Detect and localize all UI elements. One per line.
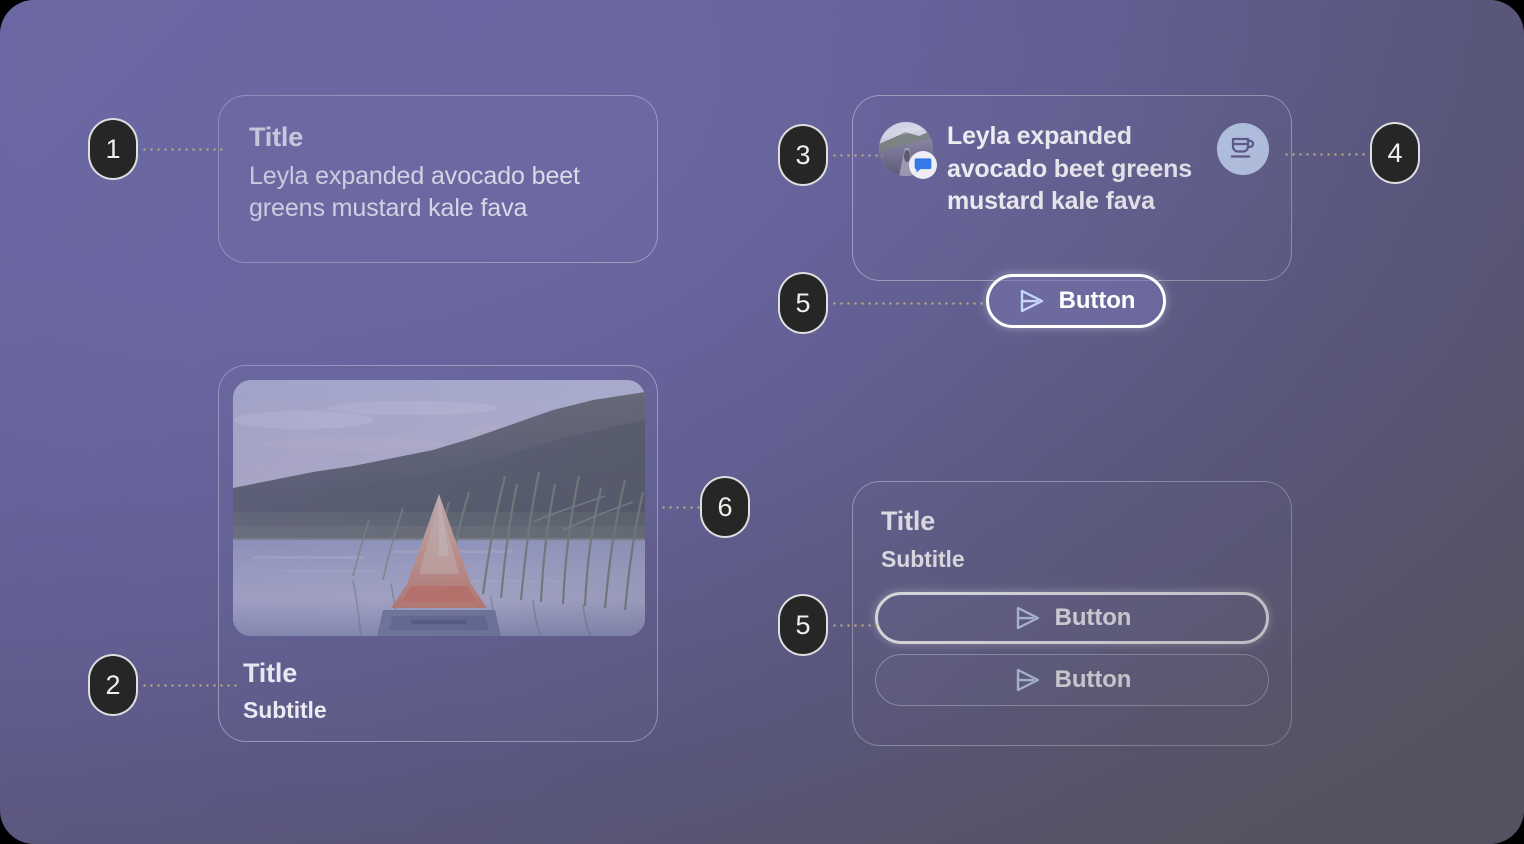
leader-lines-layer: [0, 0, 1524, 844]
leader-line-4: [1283, 153, 1369, 156]
leader-line-6: [660, 506, 704, 509]
callout-badge-6[interactable]: 6: [700, 476, 750, 538]
callout-badge-2[interactable]: 2: [88, 654, 138, 716]
callout-badge-6-number: 6: [717, 492, 732, 523]
callout-badge-4[interactable]: 4: [1370, 122, 1420, 184]
callout-badge-3[interactable]: 3: [778, 124, 828, 186]
callout-badge-1[interactable]: 1: [88, 118, 138, 180]
leader-line-5a: [831, 302, 991, 305]
annotated-ui-diagram: Title Leyla expanded avocado beet greens…: [0, 0, 1524, 844]
callout-badge-1-number: 1: [105, 134, 120, 165]
send-outline-icon: [1017, 286, 1047, 316]
callout-badge-4-number: 4: [1387, 138, 1402, 169]
callout-badge-5a-number: 5: [795, 288, 810, 319]
callout-badge-5b-number: 5: [795, 610, 810, 641]
avatar-card-button-label: Button: [1059, 287, 1136, 315]
leader-line-5b: [831, 624, 881, 627]
callout-badge-5b[interactable]: 5: [778, 594, 828, 656]
leader-line-3: [831, 154, 883, 157]
callout-badge-3-number: 3: [795, 140, 810, 171]
callout-badge-2-number: 2: [105, 670, 120, 701]
avatar-card-button[interactable]: Button: [986, 274, 1166, 328]
leader-line-1: [141, 148, 223, 151]
leader-line-2: [141, 684, 241, 687]
callout-badge-5a[interactable]: 5: [778, 272, 828, 334]
